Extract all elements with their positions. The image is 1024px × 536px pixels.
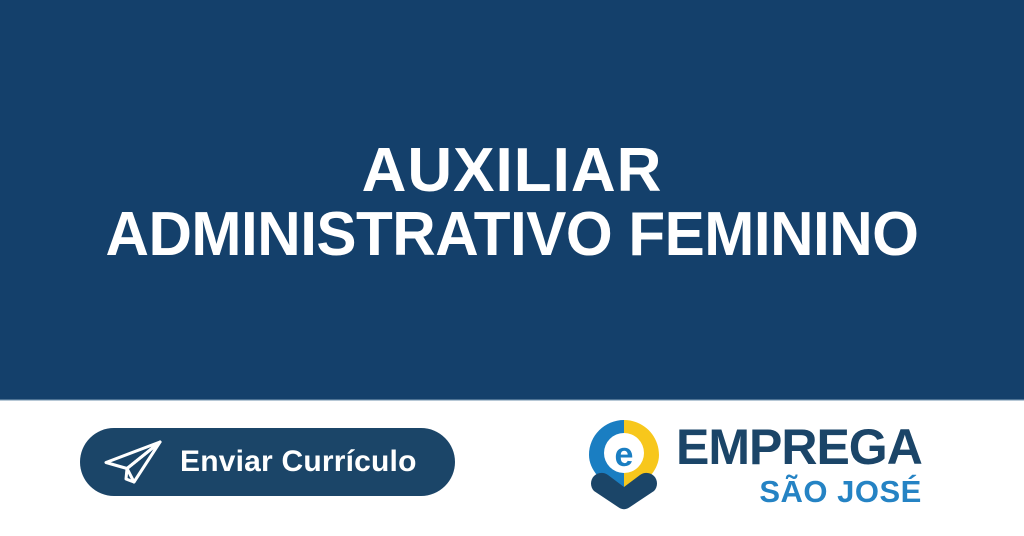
send-resume-button[interactable]: Enviar Currículo — [80, 428, 455, 496]
job-title-line-1: AUXILIAR — [0, 139, 1024, 203]
paper-plane-icon — [102, 439, 164, 485]
map-pin-e-icon: e — [586, 418, 662, 510]
job-title-line-2: ADMINISTRATIVO FEMININO — [15, 203, 1008, 267]
svg-text:e: e — [615, 436, 634, 474]
page-title: AUXILIAR ADMINISTRATIVO FEMININO — [0, 133, 1024, 268]
send-resume-label: Enviar Currículo — [180, 445, 417, 479]
hero-section: AUXILIAR ADMINISTRATIVO FEMININO — [0, 0, 1024, 400]
job-vacancy-banner: AUXILIAR ADMINISTRATIVO FEMININO Enviar … — [0, 0, 1024, 536]
brand-logo[interactable]: e EMPREGA SÃO JOSÉ — [586, 414, 926, 514]
logo-subtitle: SÃO JOSÉ — [759, 476, 922, 507]
logo-wordmark-group: EMPREGA SÃO JOSÉ — [676, 422, 922, 507]
logo-wordmark: EMPREGA — [676, 422, 922, 472]
